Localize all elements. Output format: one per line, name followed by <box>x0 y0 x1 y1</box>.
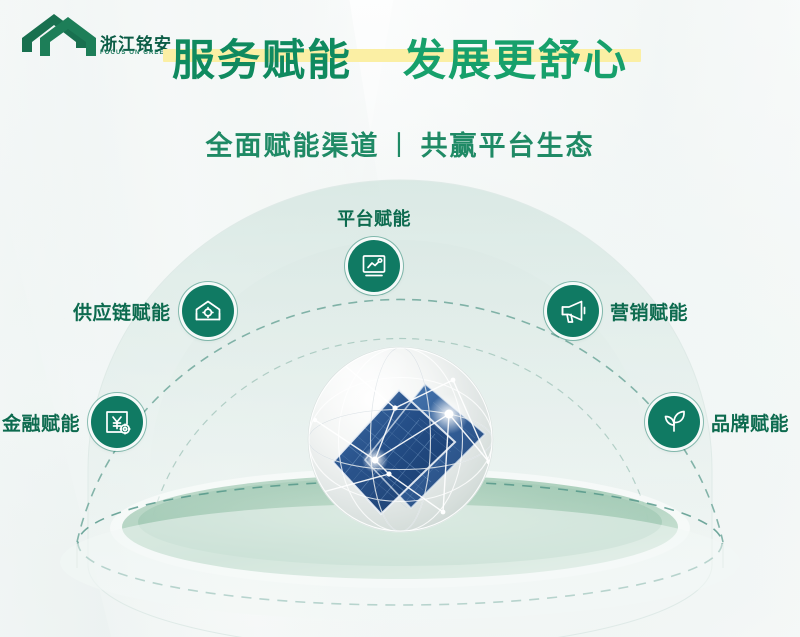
node-supply-chain[interactable]: 供应链赋能 <box>73 285 234 337</box>
node-platform-label: 平台赋能 <box>337 205 411 231</box>
subtitle-left: 全面赋能渠道 <box>206 131 380 162</box>
leaf-icon <box>648 396 700 448</box>
node-brand[interactable]: 品牌赋能 <box>648 396 789 448</box>
megaphone-icon <box>547 285 599 337</box>
headline-part-2: 发展更舒心 <box>403 36 628 86</box>
page-subtitle: 全面赋能渠道丨共赢平台生态 <box>0 124 800 163</box>
poster-canvas: 浙江铭安 FOCUS ON GREEN LIFE 服务赋能 发展更舒心 全面赋能… <box>0 0 800 637</box>
page-title: 服务赋能 发展更舒心 <box>0 40 800 83</box>
node-finance[interactable]: 金融赋能 <box>2 396 143 448</box>
chart-monitor-icon <box>348 240 400 292</box>
node-marketing-label: 营销赋能 <box>610 298 688 325</box>
subtitle-separator: 丨 <box>380 131 421 162</box>
subtitle-right: 共赢平台生态 <box>421 131 595 162</box>
node-platform[interactable]: 平台赋能 <box>337 205 411 292</box>
node-finance-label: 金融赋能 <box>2 409 80 436</box>
warehouse-gear-icon <box>182 285 234 337</box>
node-supply-chain-label: 供应链赋能 <box>73 298 171 325</box>
yuan-gear-icon <box>91 396 143 448</box>
solar-panel-globe <box>303 342 498 537</box>
headline-part-1: 服务赋能 <box>172 36 352 86</box>
node-brand-label: 品牌赋能 <box>711 409 789 436</box>
headline-wrap: 服务赋能 发展更舒心 <box>0 40 800 83</box>
node-marketing[interactable]: 营销赋能 <box>547 285 688 337</box>
